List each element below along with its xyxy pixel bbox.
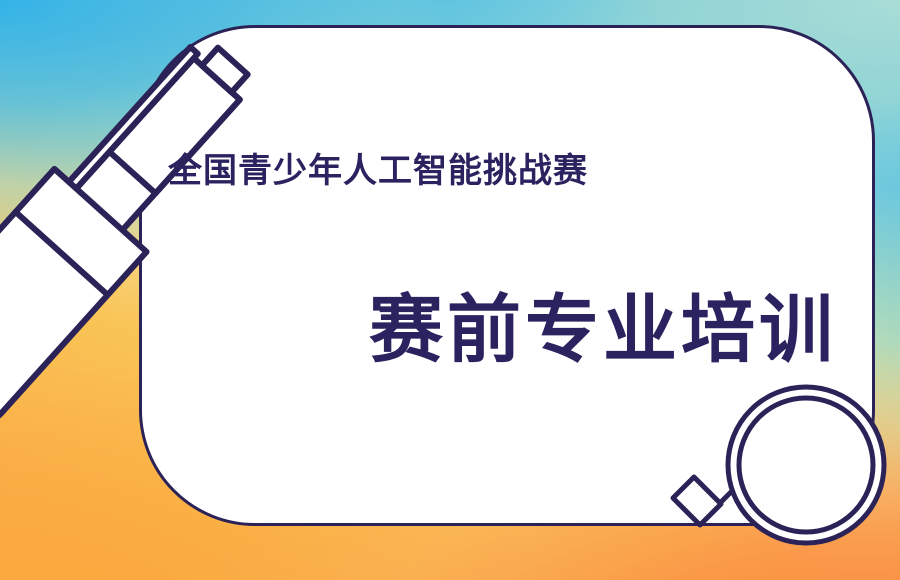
poster-canvas: 全国青少年人工智能挑战赛 赛前专业培训 bbox=[0, 0, 900, 580]
content-card bbox=[139, 25, 875, 526]
